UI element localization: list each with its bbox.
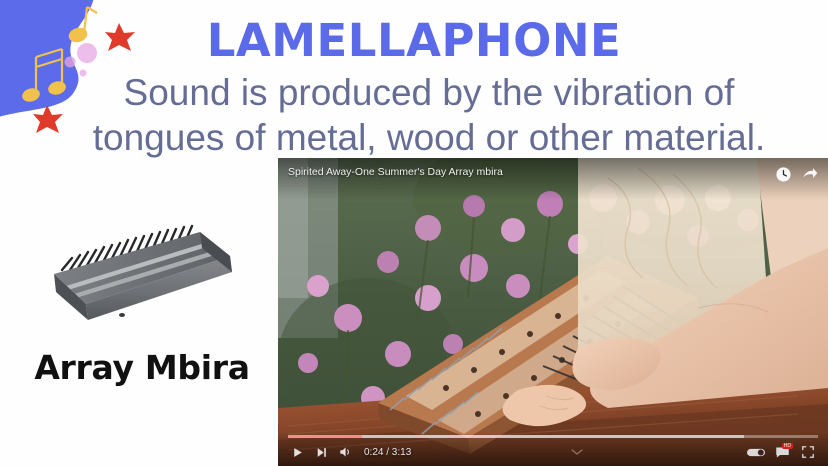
page-title: LAMELLAPHONE <box>0 14 828 67</box>
share-icon[interactable] <box>801 166 818 183</box>
fullscreen-icon[interactable] <box>796 441 820 463</box>
next-video-button[interactable] <box>310 441 332 463</box>
autoplay-toggle[interactable] <box>744 441 768 463</box>
array-mbira-illustration <box>30 212 254 334</box>
time-display: 0:24 / 3:13 <box>364 447 411 458</box>
presentation-slide: LAMELLAPHONE Sound is produced by the vi… <box>0 0 828 466</box>
instrument-caption: Array Mbira <box>18 348 266 387</box>
video-player[interactable]: Spirited Away-One Summer's Day Array mbi… <box>278 158 828 466</box>
play-button[interactable] <box>286 441 308 463</box>
watch-later-icon[interactable] <box>775 166 792 183</box>
video-title: Spirited Away-One Summer's Day Array mbi… <box>288 166 766 178</box>
video-topbar: Spirited Away-One Summer's Day Array mbi… <box>278 158 828 200</box>
controls-row: 0:24 / 3:13 HD <box>278 438 828 466</box>
slide-subtitle: Sound is produced by the vibration of to… <box>60 70 798 160</box>
video-frame-image <box>278 158 828 466</box>
video-controls[interactable]: 0:24 / 3:13 HD <box>278 432 828 466</box>
star-icon <box>33 105 63 133</box>
subtitles-badge: HD <box>782 443 793 449</box>
subtitles-icon[interactable]: HD <box>770 441 794 463</box>
instrument-block: Array Mbira <box>18 212 266 387</box>
volume-icon[interactable] <box>334 441 356 463</box>
chevron-down-icon[interactable] <box>566 444 588 460</box>
